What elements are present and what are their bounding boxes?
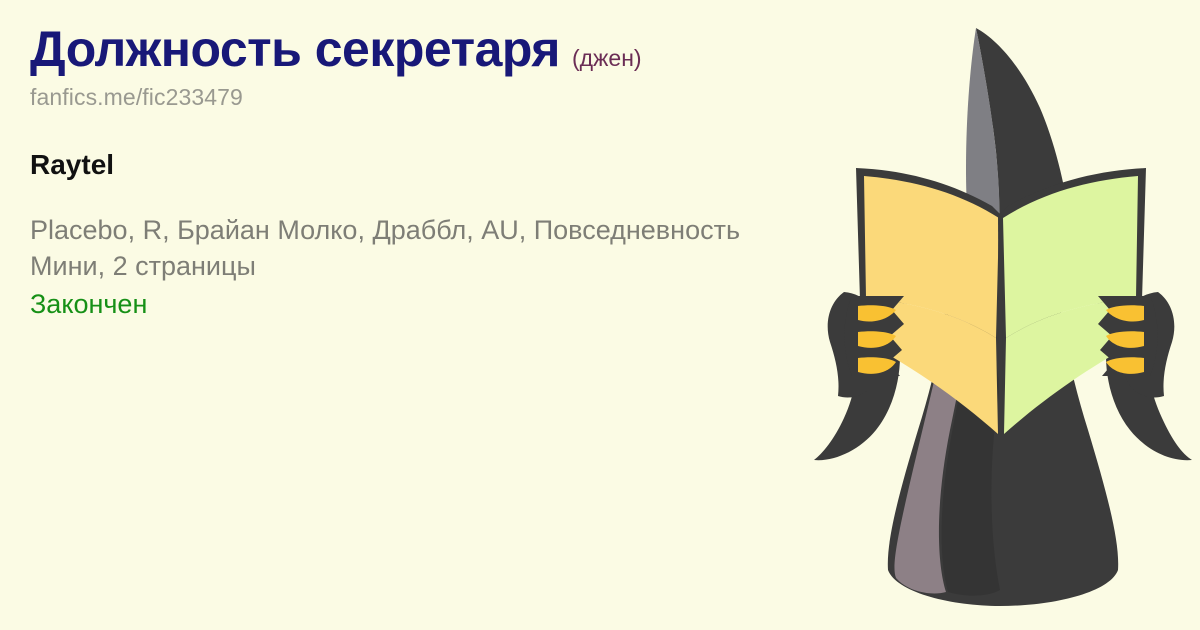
right-hand-fingers — [1098, 296, 1158, 376]
wizard-reading-book-illustration — [800, 0, 1200, 630]
robe-highlight — [894, 296, 972, 593]
fanfic-preview-card: Должность секретаря (джен) fanfics.me/fi… — [0, 0, 1200, 630]
open-book — [856, 168, 1146, 436]
robe-group — [888, 230, 1118, 606]
hat-cone — [976, 28, 1072, 238]
right-hand — [1098, 292, 1174, 398]
buckle-hole — [1014, 223, 1036, 245]
hat-brim — [913, 230, 1098, 262]
fic-category-label: (джен) — [572, 47, 642, 70]
left-hand-fingers — [845, 296, 905, 376]
right-sleeve — [1106, 290, 1192, 460]
left-claw-2 — [858, 331, 896, 348]
book-spine — [998, 214, 1003, 436]
fic-metadata: Placebo, R, Брайан Молко, Драббл, AU, По… — [30, 213, 820, 323]
robe-body — [888, 230, 1118, 606]
text-column: Должность секретаря (джен) fanfics.me/fi… — [30, 24, 820, 323]
book-page-left-fold — [866, 298, 998, 434]
right-hand-palm — [1121, 292, 1174, 398]
left-hand-palm — [828, 292, 881, 398]
right-claw-1 — [1106, 305, 1144, 321]
hat-highlight — [966, 28, 999, 240]
robe-inner-shadow — [942, 292, 1009, 596]
book-page-left — [864, 176, 999, 338]
fic-tags: Placebo, R, Брайан Молко, Драббл, AU, По… — [30, 213, 775, 249]
book-page-right — [1003, 176, 1138, 338]
right-arm-group — [1106, 290, 1192, 460]
fic-url[interactable]: fanfics.me/fic233479 — [30, 84, 820, 111]
page-title: Должность секретаря — [30, 24, 560, 74]
left-claw-1 — [858, 305, 896, 321]
fic-size: Мини, 2 страницы — [30, 249, 770, 285]
book-page-right-fold — [1004, 298, 1136, 434]
hat-buckle — [999, 211, 1051, 257]
left-arm-group — [814, 290, 900, 460]
right-claw-3 — [1106, 357, 1144, 374]
book-cover — [856, 168, 1146, 390]
status-badge: Закончен — [30, 287, 820, 323]
right-claw-2 — [1106, 331, 1144, 348]
title-row: Должность секретаря (джен) — [30, 24, 820, 74]
left-hand — [828, 292, 904, 398]
hat-group — [913, 28, 1098, 262]
left-sleeve — [814, 290, 900, 460]
buckle-plate — [999, 211, 1051, 257]
author-name[interactable]: Raytel — [30, 149, 820, 181]
left-claw-3 — [858, 357, 896, 374]
